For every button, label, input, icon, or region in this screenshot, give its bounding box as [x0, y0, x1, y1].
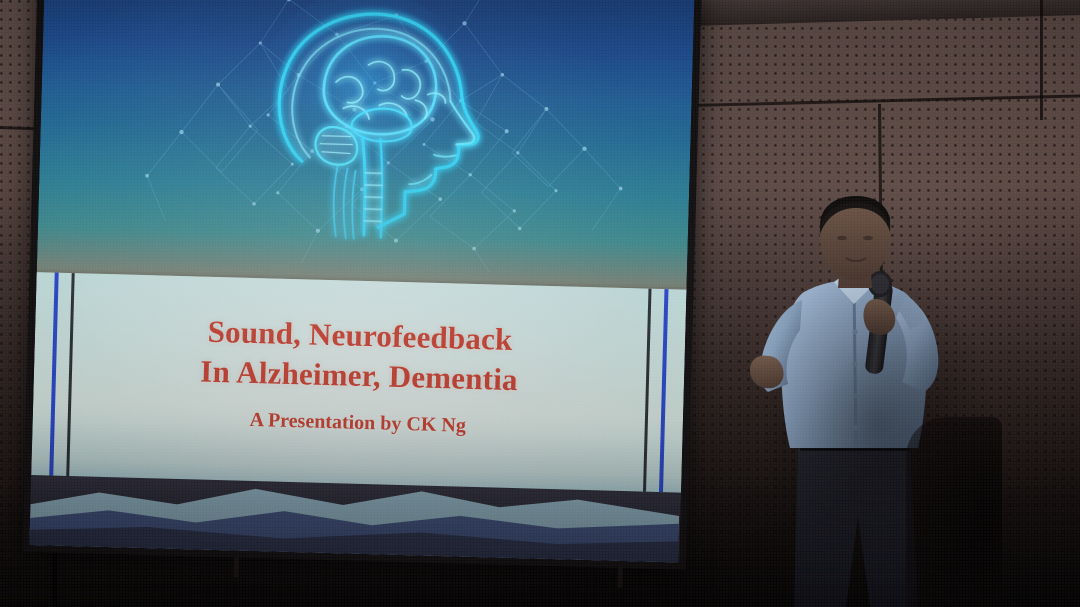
slide-subtitle: A Presentation by CK Ng	[249, 409, 466, 438]
screen-surface: Sound, Neurofeedback In Alzheimer, Demen…	[29, 0, 694, 563]
screen-hanging-tab-left	[234, 556, 240, 578]
screen-hanging-tab-right	[617, 566, 623, 588]
projection-screen: Sound, Neurofeedback In Alzheimer, Demen…	[22, 0, 702, 570]
slide-title-line-2: In Alzheimer, Dementia	[200, 352, 518, 400]
brain-network-head-icon	[228, 0, 505, 245]
speaker-with-microphone	[742, 196, 1002, 607]
foreground-dark-object	[906, 417, 1002, 607]
presentation-photo-scene: Sound, Neurofeedback In Alzheimer, Demen…	[0, 0, 1080, 607]
slide-title-band: Sound, Neurofeedback In Alzheimer, Demen…	[31, 272, 686, 493]
slide-text-block: Sound, Neurofeedback In Alzheimer, Demen…	[31, 272, 686, 493]
